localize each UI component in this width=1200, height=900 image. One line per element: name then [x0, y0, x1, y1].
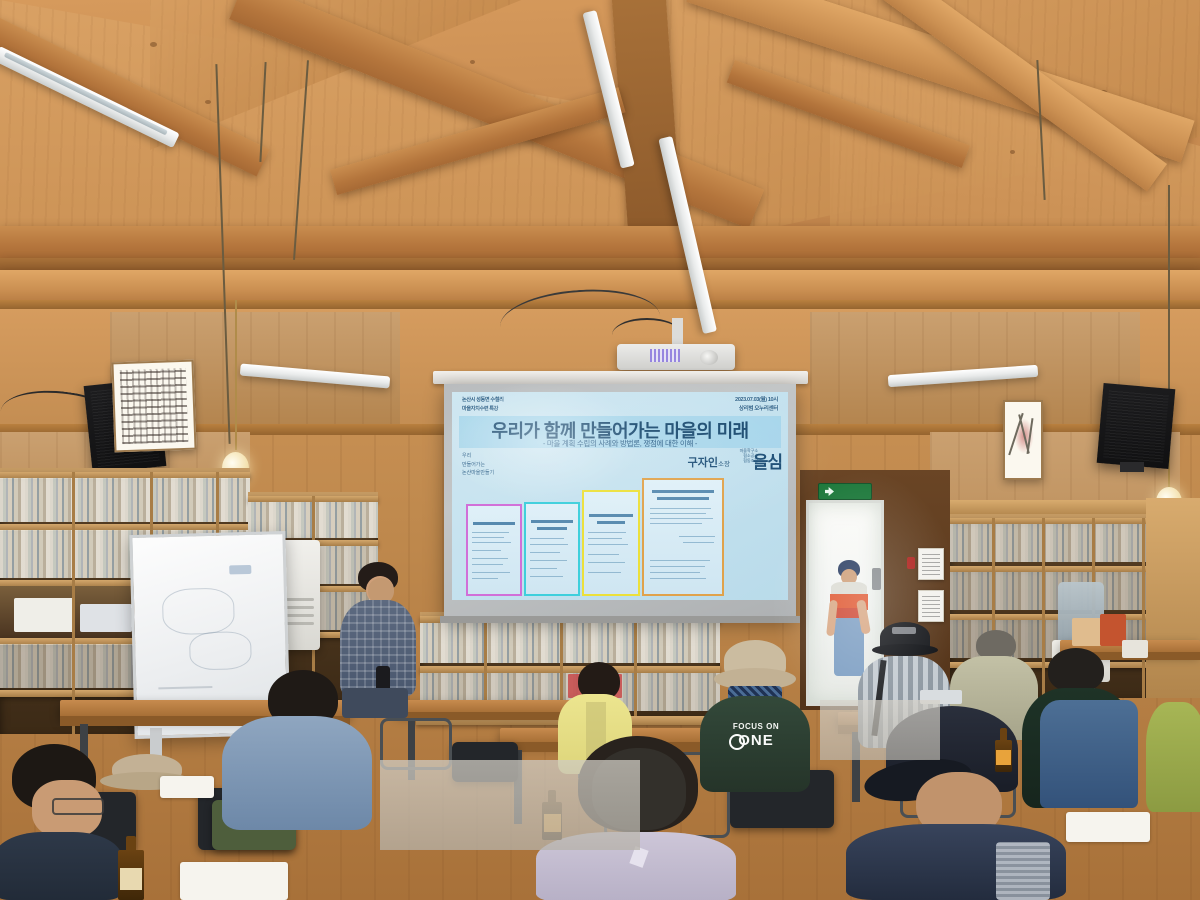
person-attendee-olive-green [1146, 702, 1200, 812]
poster-yellow [582, 490, 640, 596]
slide-presenter-name: 구자인소장 [688, 454, 730, 470]
fire-alarm [907, 557, 915, 569]
slide-header-right: 2023.07.03(월) 10시 상리범 오누리센터 [735, 396, 778, 414]
wall-panel-right [810, 312, 1140, 424]
person-attendee-glasses [0, 744, 122, 900]
napkin [160, 776, 214, 798]
napkin [1066, 812, 1150, 842]
eyeglasses [52, 798, 104, 815]
projection-screen: 논산시 성동면 수철리 마을자치수련 특강 2023.07.03(월) 10시 … [444, 384, 796, 618]
room-photo: 논산시 성동면 수철리 마을자치수련 특강 2023.07.03(월) 10시 … [0, 0, 1200, 900]
tshirt-text-line1: FOCUS ON [724, 722, 788, 731]
shirt-under-jacket [996, 842, 1050, 900]
wall-notice [918, 590, 944, 622]
presenter-role-text: 소장 [718, 461, 730, 468]
pendant-cord [235, 300, 237, 450]
white-container [1122, 640, 1148, 658]
presentation-slide: 논산시 성동면 수철리 마을자치수련 특강 2023.07.03(월) 10시 … [452, 392, 788, 600]
screen-roller-casing [433, 371, 808, 384]
beer-bottle-label [996, 750, 1011, 765]
slide-logo: 을심 [753, 448, 782, 473]
poster-cyan [524, 502, 580, 596]
framed-calligraphy [111, 360, 196, 453]
slide-header-left: 논산시 성동면 수철리 마을자치수련 특강 [462, 396, 503, 413]
exit-sign [818, 483, 872, 500]
presenter-name-text: 구자인 [688, 457, 718, 469]
cap-logo [892, 627, 916, 634]
wall-notice [918, 548, 944, 580]
tie-beam-upper [0, 226, 1200, 260]
person-presenter [336, 562, 420, 718]
beer-bottle-label [120, 868, 142, 890]
projector-indicator-panel [650, 349, 680, 362]
slide-mini-header: 우리 만들어가는 논산마을만들기 [462, 452, 494, 478]
floor [380, 760, 640, 850]
projector-lens [700, 350, 718, 365]
door-handle[interactable] [872, 568, 881, 590]
poster-purple [466, 504, 522, 596]
person-attendee-steel-blue [222, 698, 372, 830]
wooden-cabinet [1146, 498, 1200, 698]
slide-subtitle: - 마을 계획 수립의 사례와 방법론, 쟁점에 대한 이해 - [459, 438, 781, 449]
napkin [180, 862, 288, 900]
floor [820, 700, 940, 760]
wall-speaker [1097, 383, 1176, 469]
screen-bottom-bar [440, 616, 800, 623]
slide-title-box: 우리가 함께 만들어가는 마을의 미래 - 마을 계획 수립의 사례와 방법론,… [459, 416, 781, 448]
poster-orange [642, 478, 724, 596]
speaker-bracket [1120, 462, 1144, 472]
cardboard-box [1072, 618, 1102, 646]
framed-painting [1003, 400, 1043, 480]
